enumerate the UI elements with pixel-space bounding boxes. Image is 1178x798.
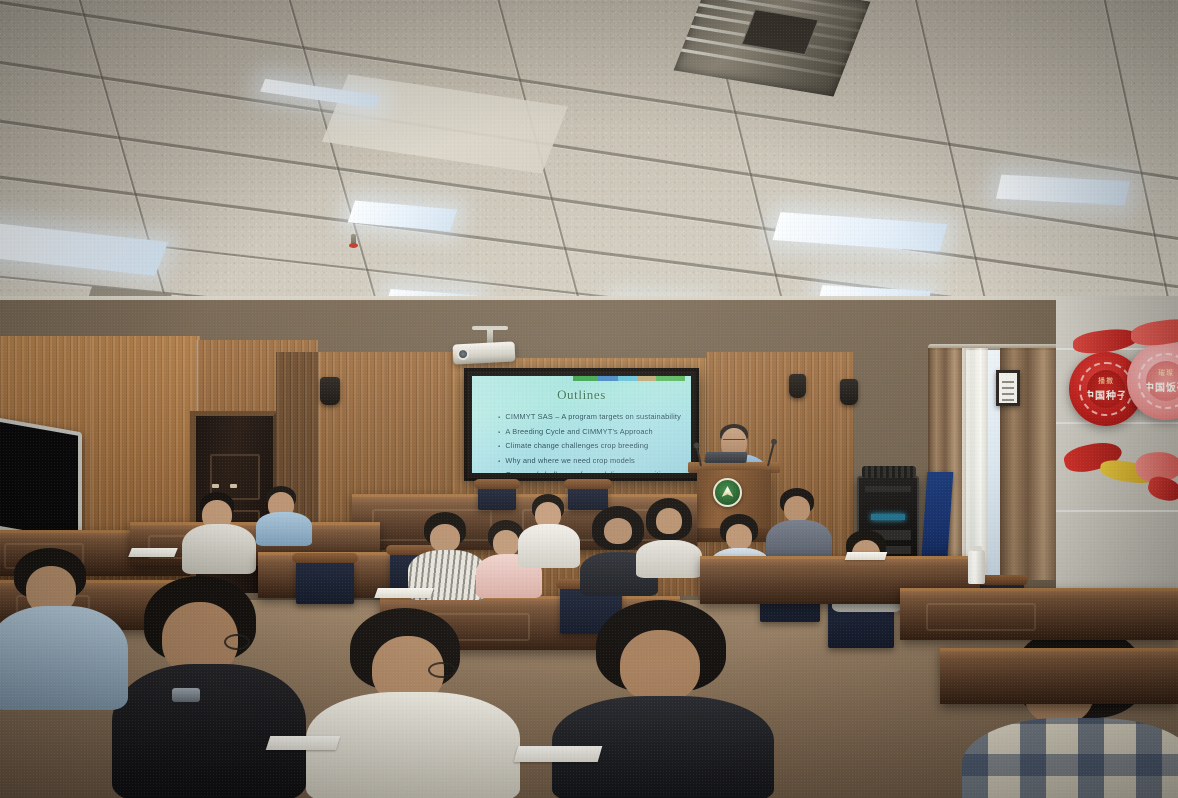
audience-member [636, 498, 702, 576]
document-on-desk [514, 746, 603, 762]
slide-bullet: Why and where we need crop models [498, 454, 677, 469]
projector [453, 341, 516, 364]
glasses-icon [428, 662, 456, 678]
audience-member [768, 488, 830, 566]
audience-member [560, 600, 770, 798]
stage-chair[interactable] [478, 486, 516, 510]
audience-chair[interactable] [296, 560, 354, 604]
slide-surface: Outlines CIMMYT SAS – A program targets … [472, 376, 691, 473]
medallion-top-text: 播撒 [1098, 376, 1114, 386]
audience-member [410, 512, 482, 596]
audience-member [0, 548, 120, 708]
slide-bullet: Climate change challenges crop breeding [498, 439, 677, 454]
wall-speaker-icon [840, 379, 858, 405]
document-on-desk [374, 588, 434, 598]
conference-room-photo: 播撒 中国种子 璀璨 中国饭碗 Outlines [0, 0, 1178, 798]
rack-cable-bundle [862, 466, 916, 478]
projector-lens-icon [457, 348, 470, 361]
podium-laptop [704, 452, 747, 463]
slide-title: Outlines [472, 387, 691, 403]
document-on-desk [266, 736, 341, 750]
emblem-glyph-icon [720, 485, 736, 501]
audience-member [258, 486, 310, 544]
slide-bullet-list: CIMMYT SAS – A program targets on sustai… [498, 410, 677, 473]
slide-accent-band [573, 376, 685, 381]
side-wall-monitor [0, 416, 82, 545]
medallion-top-text: 璀璨 [1158, 368, 1174, 378]
document-on-desk [845, 552, 888, 560]
podium-emblem [713, 478, 742, 507]
glasses-icon [224, 634, 250, 650]
desk-row [940, 648, 1178, 704]
desk-row [900, 588, 1178, 640]
document-on-desk [128, 548, 178, 557]
slide-bullet: A Breeding Cycle and CIMMYT's Approach [498, 425, 677, 440]
audience-member [120, 576, 300, 798]
plaid-shirt [962, 718, 1178, 798]
audience-member [186, 492, 252, 574]
audience-member [520, 494, 578, 566]
slide-bullet: Gaps and challenges for modeling communi… [498, 468, 677, 473]
thermos-bottle [968, 550, 985, 584]
audience-member [316, 608, 516, 798]
shirt-logo [172, 688, 200, 702]
framed-wall-sign [996, 370, 1020, 406]
medallion-main-text: 中国种子 [1087, 387, 1126, 402]
wall-medallion-2: 璀璨 中国饭碗 [1127, 342, 1178, 420]
projection-screen: Outlines CIMMYT SAS – A program targets … [464, 368, 699, 481]
wall-speaker-icon [789, 374, 806, 398]
wall-speaker-icon [320, 377, 340, 405]
presenter-glasses-icon [723, 439, 745, 443]
medallion-main-text: 中国饭碗 [1146, 379, 1178, 394]
slide-bullet: CIMMYT SAS – A program targets on sustai… [498, 410, 677, 425]
sprinkler-head-icon [351, 234, 356, 245]
